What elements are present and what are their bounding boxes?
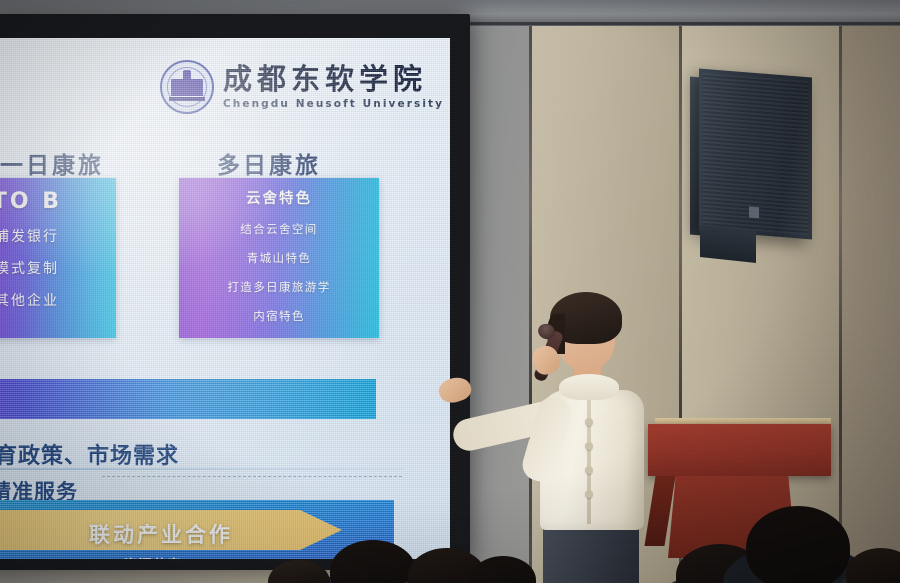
university-name-en: Chengdu Neusoft University [223,98,444,110]
arrow-label: 联动产业合作 [89,519,233,549]
presenter-cardigan-placket [587,398,591,524]
speaker-mount-bracket [700,225,756,263]
dashed-connector [102,476,402,477]
conference-room-scene: 成都东软学院 Chengdu Neusoft University 一日康旅 多… [0,0,900,583]
wall-panel-4 [842,0,900,583]
projected-slide: 成都东软学院 Chengdu Neusoft University 一日康旅 多… [0,38,450,559]
list-item: 青城山特色 [179,250,379,266]
university-name-cn: 成都东软学院 [223,64,444,95]
column-title-one-day: 一日康旅 [0,146,104,180]
wall-mounted-loudspeaker [699,69,812,240]
cardigan-button [585,466,593,474]
projection-screen-frame: 成都东软学院 Chengdu Neusoft University 一日康旅 多… [0,14,470,570]
presenter-trousers [543,522,639,583]
panel-right-list: 结合云舍空间 青城山特色 打造多日康旅游学 内宿特色 生命重塑凤凰+云舍+康道院 [179,221,379,338]
subline-resource-sharing: 资源共享 [124,554,182,559]
panel-left-heading: TO B [0,189,116,214]
mid-gradient-bar: 化 [0,379,376,419]
wall-seam-3 [839,0,842,583]
presenter-figure [437,290,647,583]
statement-policy-demand: 教育政策、市场需求 [0,438,179,470]
panel-yunshe-features: 云舍特色 结合云舍空间 青城山特色 打造多日康旅游学 内宿特色 生命重塑凤凰+云… [179,178,379,338]
slide-header: 成都东软学院 Chengdu Neusoft University [160,60,444,114]
panel-to-b: TO B 浦发银行 模式复制 其他企业 [0,178,116,338]
presenter-collar [559,374,619,400]
presenter-left-hand [436,374,474,407]
list-item: 生命重塑凤凰+云舍+康道院 [179,337,379,338]
lectern-front-panel [648,424,831,476]
column-title-multi-day: 多日康旅 [217,146,321,180]
panel-left-list: 浦发银行 模式复制 其他企业 [0,226,116,310]
panel-right-heading: 云舍特色 [179,187,379,208]
list-item: 其他企业 [0,290,116,310]
list-item: 结合云舍空间 [179,221,379,237]
list-item: 模式复制 [0,258,116,278]
cardigan-button [585,418,593,426]
speaker-badge-icon [749,206,759,218]
list-item: 打造多日康旅游学 [179,279,379,295]
cardigan-button [585,442,593,450]
list-item: 浦发银行 [0,226,116,246]
audience-member-head [746,506,850,583]
cardigan-button [585,490,593,498]
list-item: 内宿特色 [179,308,379,324]
university-crest-icon [160,60,214,114]
